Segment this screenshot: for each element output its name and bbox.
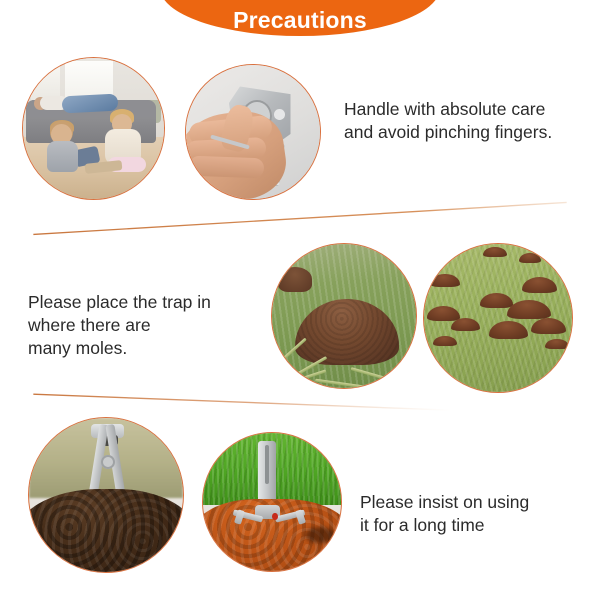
photo-trap-installed-in-dark-soil bbox=[28, 417, 184, 573]
photo-single-molehill-in-grass bbox=[271, 243, 417, 389]
divider-top bbox=[0, 198, 600, 238]
photo-hand-holding-trap-trigger-plate bbox=[185, 64, 321, 200]
photo-trap-claws-in-red-soil bbox=[202, 432, 342, 572]
precautions-banner: Precautions bbox=[160, 0, 440, 36]
precaution-text-1: Handle with absolute care and avoid pinc… bbox=[344, 98, 552, 144]
page-title: Precautions bbox=[233, 9, 367, 32]
precaution-text-3: Please insist on using it for a long tim… bbox=[360, 491, 529, 537]
photo-children-playing-living-room bbox=[22, 57, 165, 200]
precaution-text-2: Please place the trap in where there are… bbox=[28, 291, 211, 360]
photo-field-with-many-molehills bbox=[423, 243, 573, 393]
